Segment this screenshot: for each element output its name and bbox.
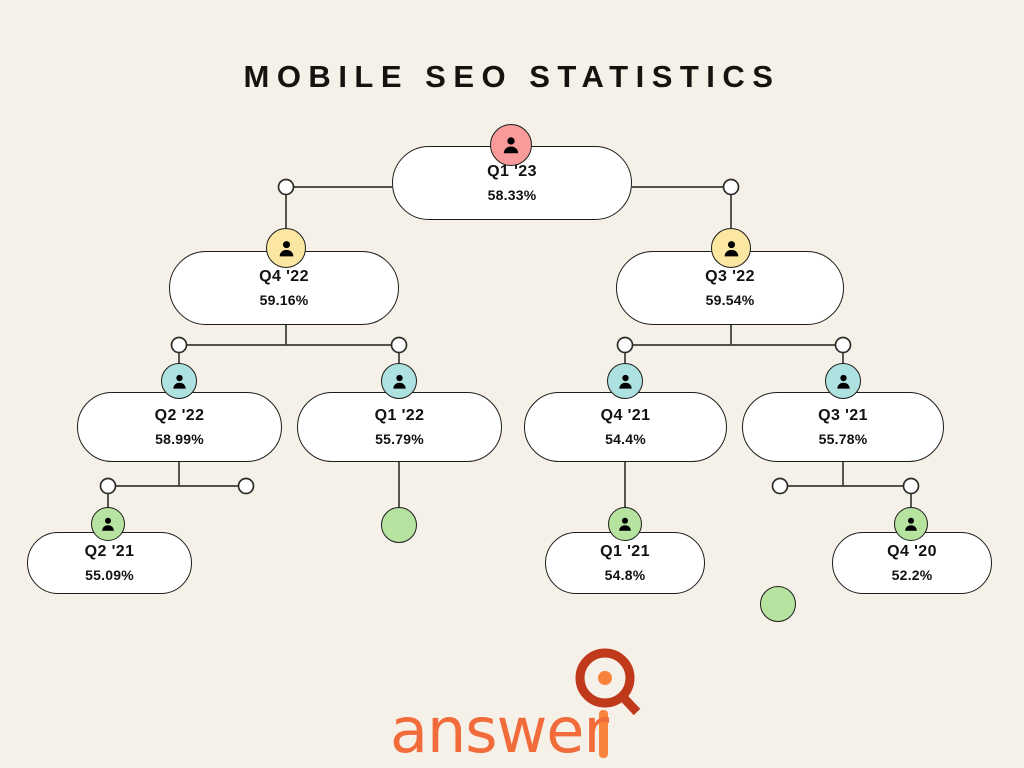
avatar-q1-22: [381, 363, 417, 399]
empty-node-marker-floating[interactable]: [760, 586, 796, 622]
joint-q2-21: [101, 479, 116, 494]
person-icon: [99, 515, 117, 533]
node-q2-21[interactable]: Q2 '21 55.09%: [27, 532, 192, 594]
infographic-canvas: MOBILE SEO STATISTICS: [0, 0, 1024, 768]
node-value: 59.16%: [260, 292, 309, 308]
brand-logo[interactable]: answer: [390, 648, 650, 760]
q-tail-icon: [622, 696, 637, 712]
joint-q2-22-spare: [239, 479, 254, 494]
node-value: 58.99%: [155, 431, 204, 447]
node-value: 55.79%: [375, 431, 424, 447]
node-label: Q2 '22: [155, 407, 205, 425]
joint-q1-22: [392, 338, 407, 353]
person-icon: [902, 515, 920, 533]
node-q2-22[interactable]: Q2 '22 58.99%: [77, 392, 282, 462]
logo-wordmark: answer: [390, 700, 608, 762]
node-label: Q4 '21: [601, 407, 651, 425]
node-label: Q2 '21: [85, 543, 135, 561]
avatar-q2-21: [91, 507, 125, 541]
node-value: 59.54%: [706, 292, 755, 308]
avatar-q4-21: [607, 363, 643, 399]
avatar-q4-22: [266, 228, 306, 268]
joint-q3-21-spare: [773, 479, 788, 494]
person-icon: [616, 515, 634, 533]
node-q1-22[interactable]: Q1 '22 55.79%: [297, 392, 502, 462]
node-q1-21[interactable]: Q1 '21 54.8%: [545, 532, 705, 594]
node-label: Q4 '22: [259, 268, 309, 286]
joint-q2-22: [172, 338, 187, 353]
node-label: Q1 '21: [600, 543, 650, 561]
avatar-q3-22: [711, 228, 751, 268]
node-label: Q3 '21: [818, 407, 868, 425]
joint-root-left: [279, 180, 294, 195]
q-center-dot-icon: [598, 671, 612, 685]
person-icon: [500, 134, 522, 156]
joint-q4-20: [904, 479, 919, 494]
node-value: 58.33%: [488, 187, 537, 203]
avatar-q1-21: [608, 507, 642, 541]
empty-node-marker-under-q1-22[interactable]: [381, 507, 417, 543]
node-label: Q3 '22: [705, 268, 755, 286]
person-icon: [276, 238, 297, 259]
joint-q4-21: [618, 338, 633, 353]
node-value: 54.8%: [605, 567, 646, 583]
node-value: 55.78%: [819, 431, 868, 447]
avatar-q1-23: [490, 124, 532, 166]
node-value: 55.09%: [85, 567, 134, 583]
node-label: Q4 '20: [887, 543, 937, 561]
node-value: 54.4%: [605, 431, 646, 447]
avatar-q2-22: [161, 363, 197, 399]
person-icon: [721, 238, 742, 259]
person-icon: [616, 372, 635, 391]
avatar-q3-21: [825, 363, 861, 399]
avatar-q4-20: [894, 507, 928, 541]
joint-q3-21: [836, 338, 851, 353]
node-label: Q1 '22: [375, 407, 425, 425]
node-value: 52.2%: [892, 567, 933, 583]
person-icon: [170, 372, 189, 391]
person-icon: [390, 372, 409, 391]
joint-root-right: [724, 180, 739, 195]
page-title: MOBILE SEO STATISTICS: [0, 59, 1024, 95]
node-q4-21[interactable]: Q4 '21 54.4%: [524, 392, 727, 462]
node-q3-21[interactable]: Q3 '21 55.78%: [742, 392, 944, 462]
node-q4-20[interactable]: Q4 '20 52.2%: [832, 532, 992, 594]
person-icon: [834, 372, 853, 391]
